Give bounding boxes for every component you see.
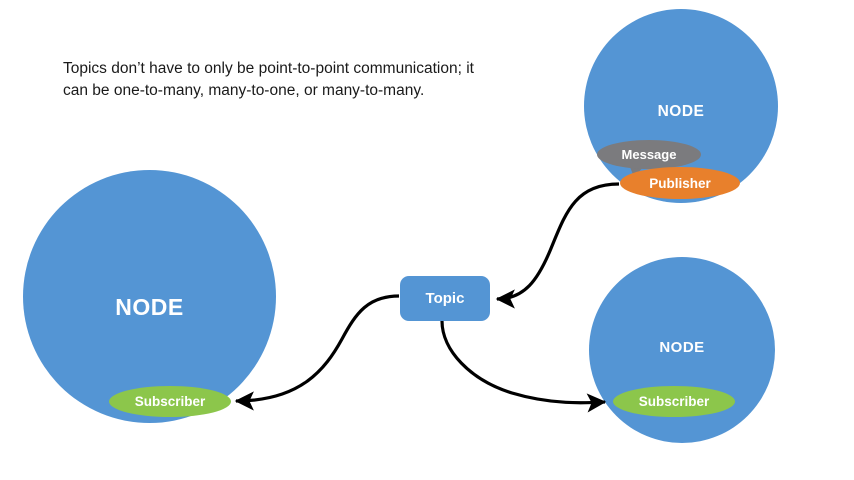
node-label-bottom-right: NODE [589, 339, 775, 356]
subscriber-label-left: Subscriber [135, 394, 206, 409]
node-label-top-right: NODE [584, 103, 778, 121]
message-label: Message [622, 147, 677, 162]
publisher-ellipse[interactable]: Publisher [620, 167, 740, 199]
topic-label: Topic [426, 290, 465, 307]
publisher-label: Publisher [649, 176, 711, 191]
subscriber-ellipse-left[interactable]: Subscriber [109, 386, 231, 417]
arrow-topic-to-bottom-right-subscriber [442, 321, 605, 403]
diagram-canvas: Topics don’t have to only be point-to-po… [0, 0, 854, 480]
arrow-publisher-to-topic [497, 184, 619, 299]
node-label-left: NODE [23, 294, 276, 321]
subscriber-ellipse-bottom-right[interactable]: Subscriber [613, 386, 735, 417]
caption-text: Topics don’t have to only be point-to-po… [63, 58, 483, 103]
topic-box[interactable]: Topic [400, 276, 490, 321]
subscriber-label-bottom-right: Subscriber [639, 394, 710, 409]
message-ellipse[interactable]: Message [597, 140, 701, 169]
